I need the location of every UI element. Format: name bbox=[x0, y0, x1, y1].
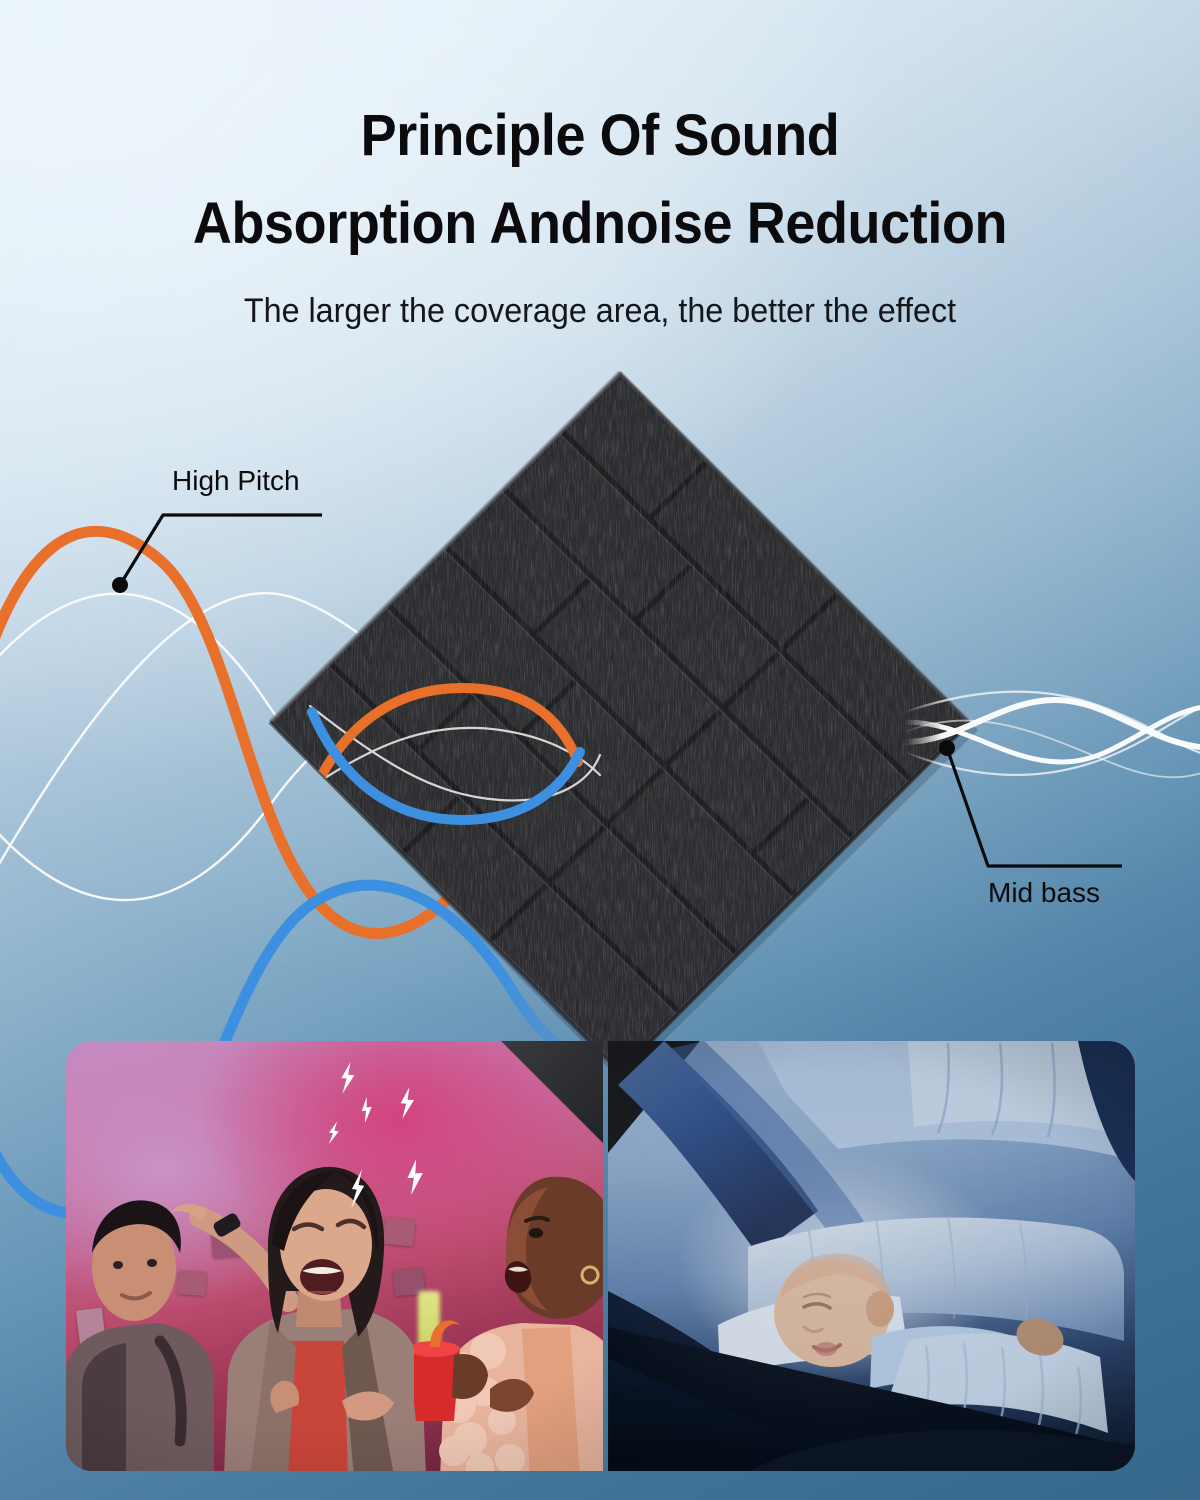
high-pitch-anchor-dot bbox=[113, 578, 128, 593]
crib-scene bbox=[608, 1041, 1135, 1471]
photo-noisy-party bbox=[66, 1041, 603, 1471]
acoustic-panel bbox=[270, 372, 978, 1082]
person-right bbox=[414, 1159, 603, 1471]
callout-label-mid-bass: Mid bass bbox=[988, 877, 1100, 909]
photo-strip bbox=[66, 1041, 1135, 1471]
photo-sleeping-baby bbox=[608, 1041, 1135, 1471]
promo-image-root: Principle Of SoundAbsorption Andnoise Re… bbox=[0, 0, 1200, 1500]
mid-bass-anchor-dot bbox=[940, 741, 955, 756]
callout-label-high-pitch: High Pitch bbox=[172, 465, 300, 497]
mid-bass-leader-line bbox=[947, 748, 1122, 866]
